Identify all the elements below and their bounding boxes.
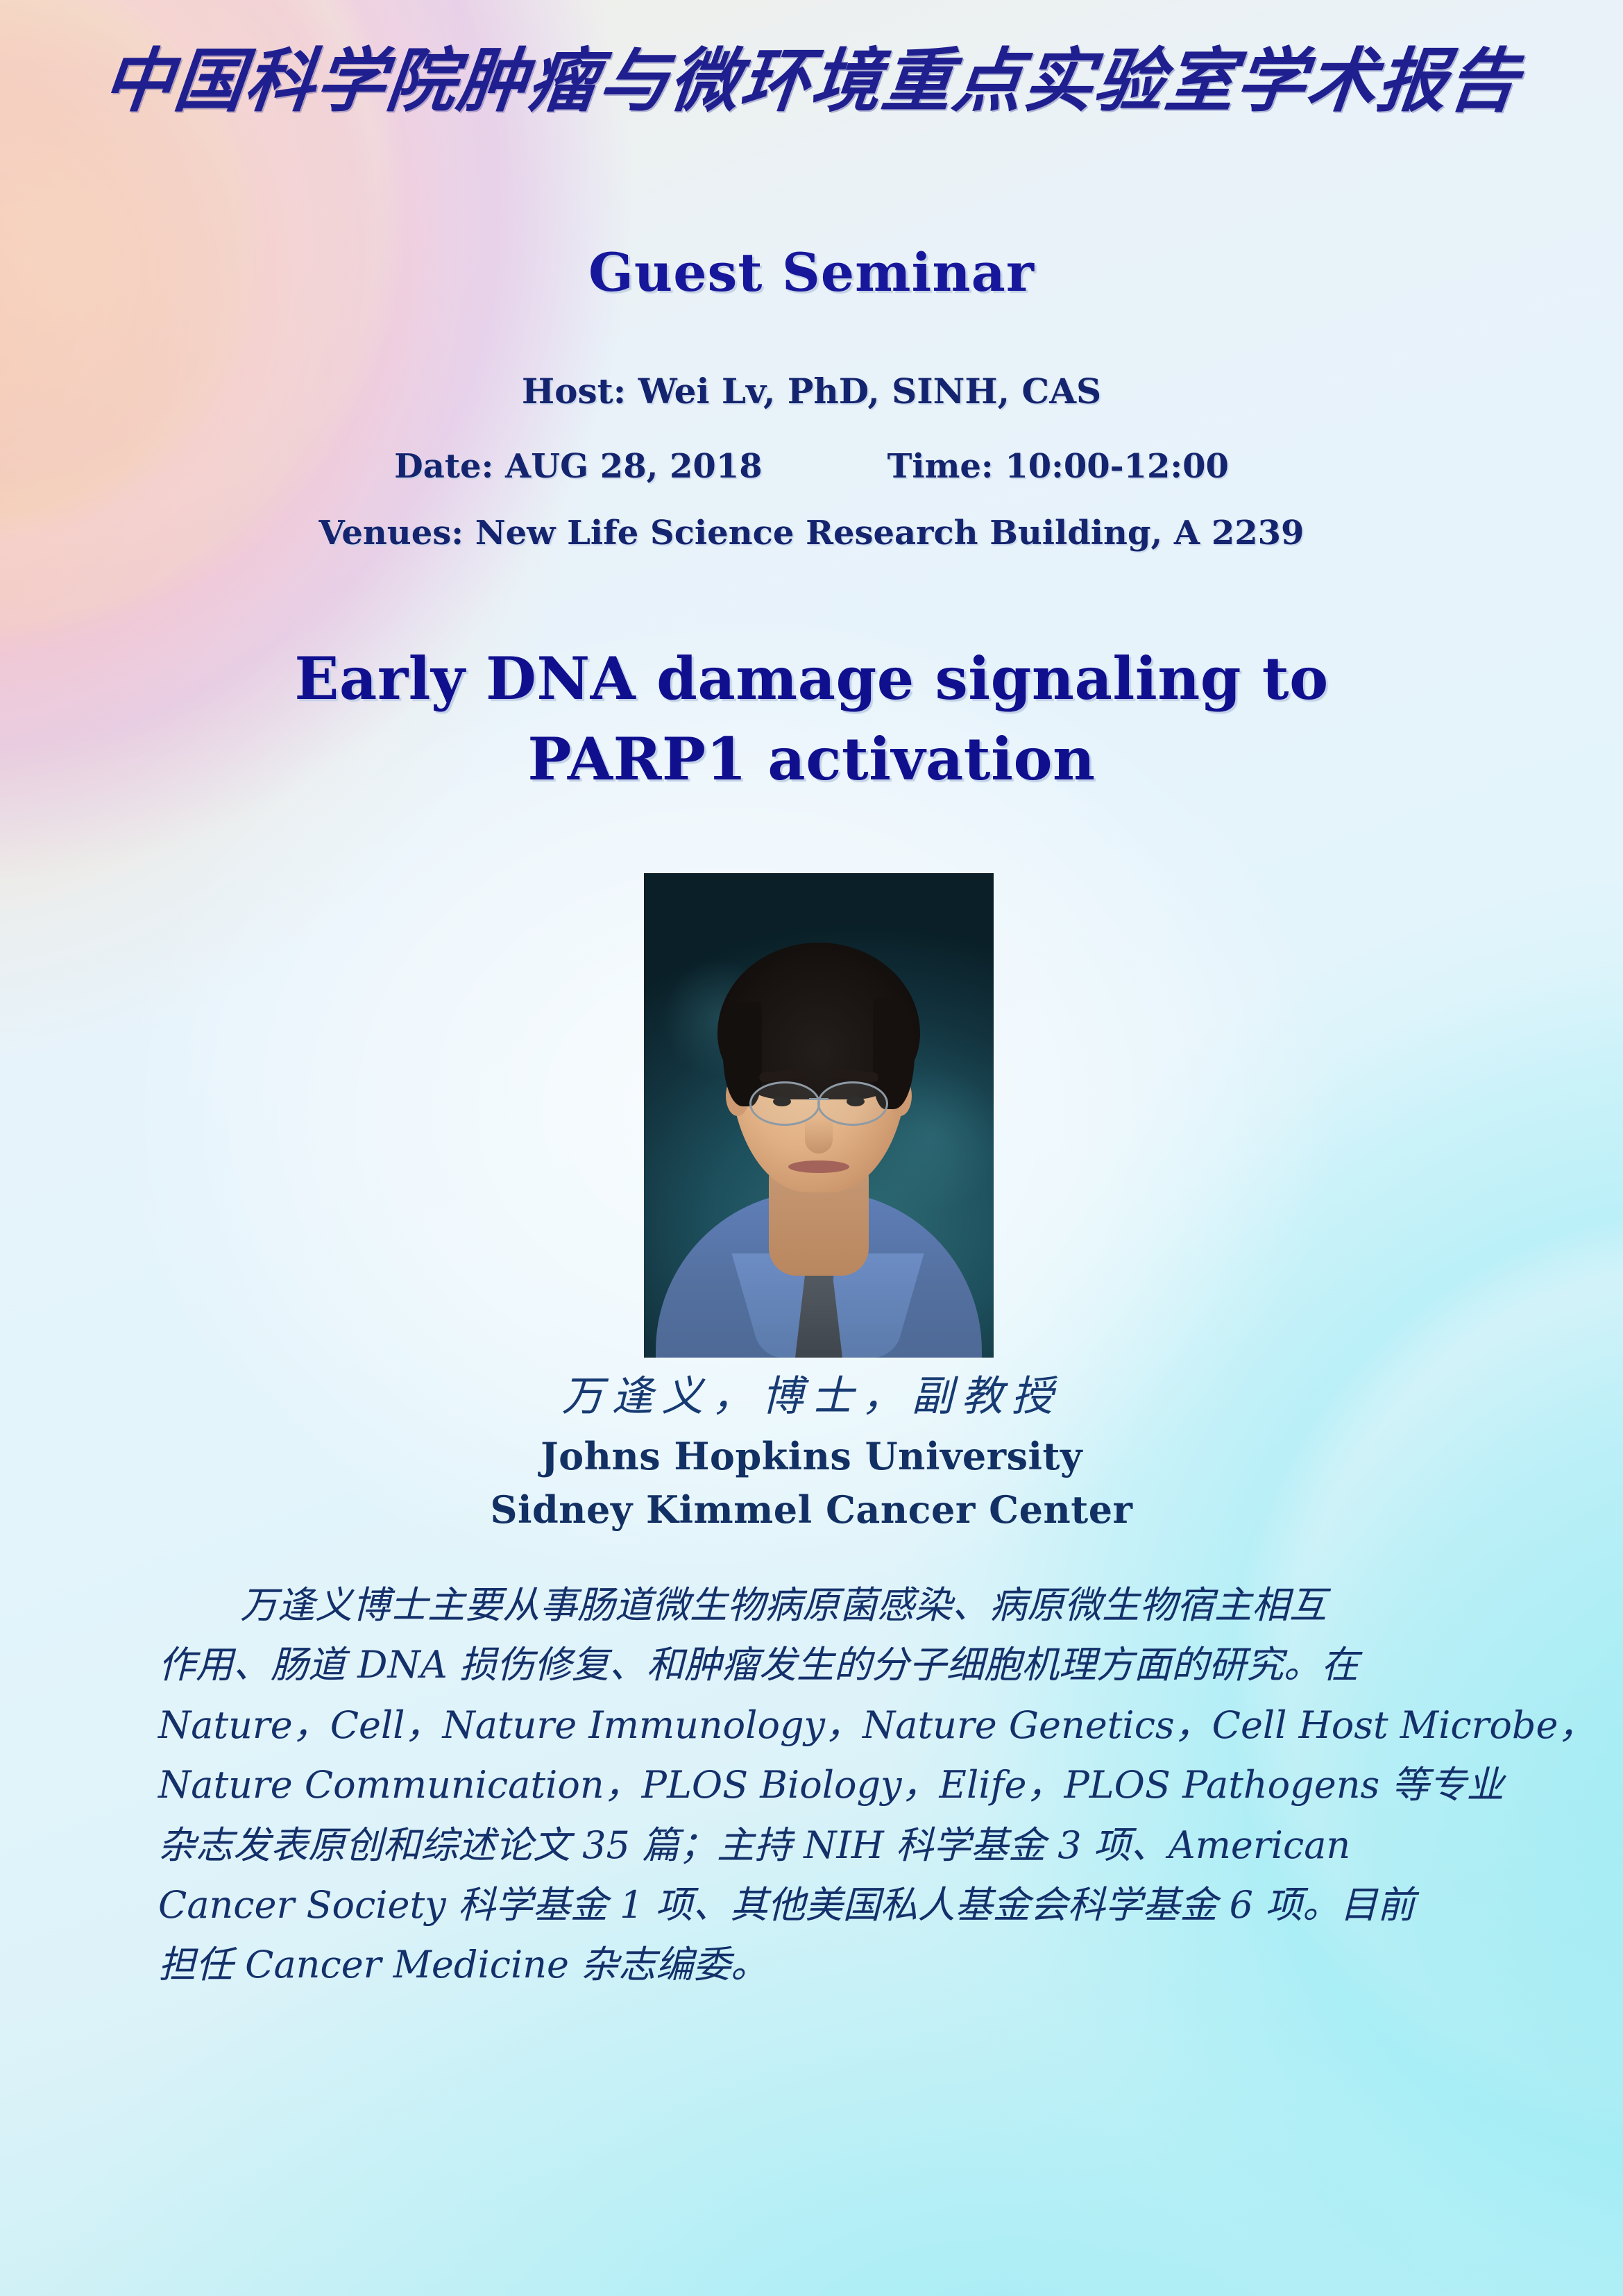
bio-line: Nature Communication，PLOS Biology，Elife，… bbox=[158, 1755, 1477, 1815]
bio-line: Cancer Society 科学基金 1 项、其他美国私人基金会科学基金 6 … bbox=[158, 1875, 1477, 1935]
seminar-poster: 中国科学院肿瘤与微环境重点实验室学术报告 Guest Seminar Host:… bbox=[0, 0, 1623, 2296]
affiliation-line-1: Johns Hopkins University bbox=[0, 1430, 1623, 1483]
speaker-portrait bbox=[644, 873, 994, 1358]
bio-line: 杂志发表原创和综述论文 35 篇；主持 NIH 科学基金 3 项、America… bbox=[158, 1816, 1477, 1875]
talk-title-line-1: Early DNA damage signaling to bbox=[208, 639, 1415, 719]
talk-title-line-2: PARP1 activation bbox=[208, 719, 1415, 800]
affiliation-line-2: Sidney Kimmel Cancer Center bbox=[0, 1483, 1623, 1537]
date-label: Date: AUG 28, 2018 bbox=[394, 447, 762, 486]
bio-line: 作用、肠道 DNA 损伤修复、和肿瘤发生的分子细胞机理方面的研究。在 bbox=[158, 1635, 1477, 1695]
talk-title: Early DNA damage signaling to PARP1 acti… bbox=[208, 639, 1415, 800]
portrait-mouth bbox=[788, 1160, 849, 1173]
portrait-nose bbox=[805, 1117, 833, 1154]
lab-banner-title: 中国科学院肿瘤与微环境重点实验室学术报告 bbox=[0, 40, 1623, 122]
venue-label: Venues: New Life Science Research Buildi… bbox=[0, 514, 1623, 552]
bio-line-text: 万逢义博士主要从事肠道微生物病原菌感染、病原微生物宿主相互 bbox=[240, 1583, 1327, 1627]
date-time-row: Date: AUG 28, 2018Time: 10:00-12:00 bbox=[0, 447, 1623, 486]
bio-line: Nature，Cell，Nature Immunology，Nature Gen… bbox=[158, 1696, 1477, 1755]
speaker-affiliation: Johns Hopkins University Sidney Kimmel C… bbox=[0, 1430, 1623, 1536]
speaker-biography: 万逢义博士主要从事肠道微生物病原菌感染、病原微生物宿主相互 作用、肠道 DNA … bbox=[158, 1576, 1477, 1995]
portrait-eyeglass-bridge bbox=[809, 1098, 829, 1100]
time-label: Time: 10:00-12:00 bbox=[887, 447, 1229, 486]
speaker-name-chinese: 万逢义，博士，副教授 bbox=[0, 1362, 1623, 1423]
bio-line: 万逢义博士主要从事肠道微生物病原菌感染、病原微生物宿主相互 bbox=[158, 1576, 1477, 1635]
seminar-heading: Guest Seminar bbox=[0, 242, 1623, 303]
bio-line: 担任 Cancer Medicine 杂志编委。 bbox=[158, 1935, 1477, 1995]
host-line: Host: Wei Lv, PhD, SINH, CAS bbox=[0, 371, 1623, 412]
